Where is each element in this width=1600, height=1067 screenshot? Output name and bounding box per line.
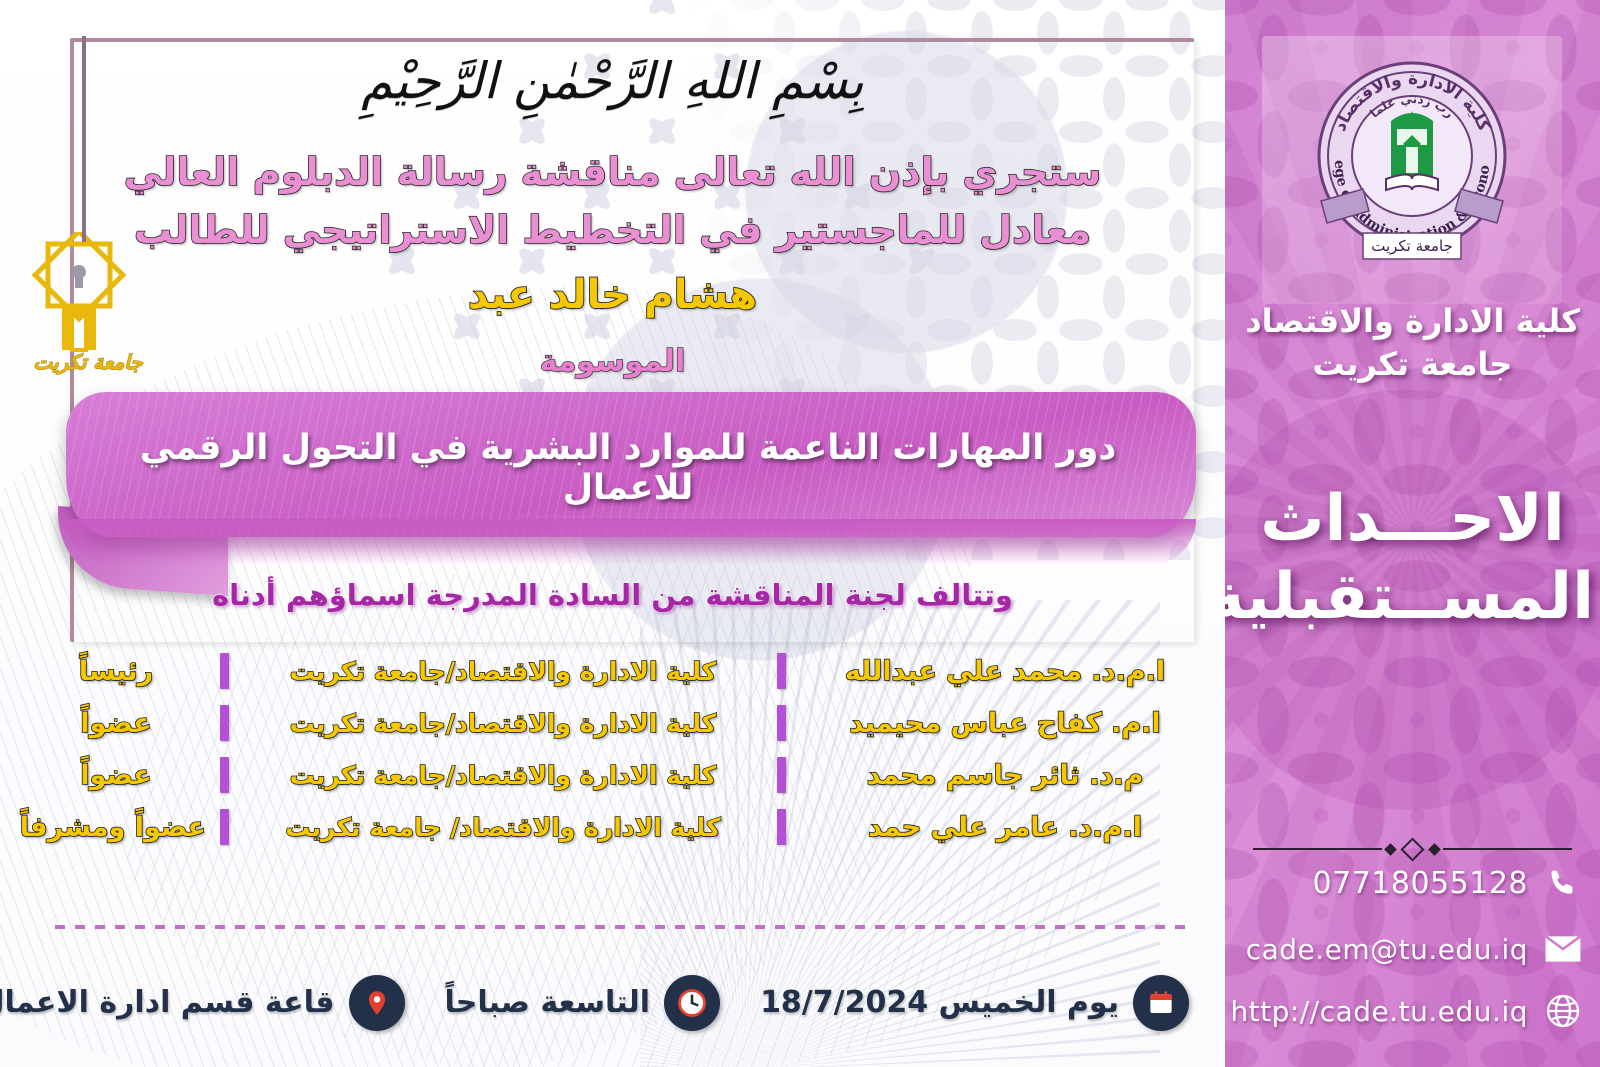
university-emblem: جامعة تكريت (24, 232, 144, 402)
committee-member-name: ا.م.د. عامر علي حمد (800, 812, 1210, 843)
college-seal-logo: كلية الادارة والاقتصاد رب زدني علما Coll… (1287, 51, 1537, 289)
committee-member-name: م.د. ثائر جاسم محمد (800, 760, 1210, 791)
poster-root: بِسْمِ اللهِ الرَّحْمٰنِ الرَّحِيْمِ ستج… (0, 0, 1600, 1067)
contact-website-row[interactable]: http://cade.tu.edu.iq (1230, 990, 1584, 1032)
thesis-title-ribbon: دور المهارات الناعمة للموارد البشرية في … (58, 392, 1198, 592)
announcement-line-1: ستجري بإذن الله تعالى مناقشة رسالة الدبل… (60, 150, 1165, 194)
committee-separator-bar (220, 809, 229, 845)
emblem-star-icon (24, 232, 144, 362)
main-panel: بِسْمِ اللهِ الرَّحْمٰنِ الرَّحِيْمِ ستج… (0, 0, 1225, 1067)
basmala-calligraphy: بِسْمِ اللهِ الرَّحْمٰنِ الرَّحِيْمِ (0, 52, 1225, 110)
committee-row: ا.م.د. عامر علي حمدكلية الادارة والاقتصا… (0, 801, 1210, 853)
footer-date-item: يوم الخميس 18/7/2024 (754, 975, 1189, 1031)
contact-phone-row[interactable]: 07718055128 (1313, 862, 1584, 904)
committee-member-role: رئيساً (26, 656, 206, 687)
committee-member-role: عضواً (26, 760, 206, 791)
committee-separator-bar (777, 653, 786, 689)
event-details-footer: يوم الخميس 18/7/2024 التاسعة صباحاً (0, 955, 1215, 1050)
calendar-icon (1133, 975, 1189, 1031)
committee-separator-bar (220, 757, 229, 793)
footer-venue-item: قاعة قسم ادارة الاعمال (0, 975, 405, 1031)
divider-bar-right (1253, 848, 1382, 850)
phone-number: 07718055128 (1313, 866, 1528, 901)
committee-member-role: عضواً ومشرفاً (26, 812, 206, 843)
emblem-label: جامعة تكريت (30, 350, 146, 374)
committee-member-name: ا.م. كفاح عباس محيميد (800, 708, 1210, 739)
divider-dot-right (1384, 843, 1397, 856)
committee-separator-bar (220, 653, 229, 689)
committee-member-role: عضواً (26, 708, 206, 739)
divider-bar-left (1443, 848, 1572, 850)
ornamental-divider (1253, 838, 1572, 860)
future-events-line-1: الاحـــداث (1231, 480, 1594, 558)
clock-icon (664, 975, 720, 1031)
committee-row: ا.م. كفاح عباس محيميدكلية الادارة والاقت… (0, 697, 1210, 749)
committee-heading: وتتالف لجنة المناقشة من السادة المدرجة ا… (60, 578, 1165, 612)
college-name-block: كلية الادارة والاقتصاد جامعة تكريت (1233, 300, 1592, 386)
event-venue: قاعة قسم ادارة الاعمال (0, 985, 335, 1020)
location-pin-icon (349, 975, 405, 1031)
event-date: يوم الخميس 18/7/2024 (760, 985, 1119, 1020)
titled-label: الموسومة (60, 344, 1165, 379)
globe-icon (1542, 990, 1584, 1032)
announcement-line-2: معادل للماجستير في التخطيط الاستراتيجي ل… (60, 208, 1165, 252)
college-name-line-2: جامعة تكريت (1233, 343, 1592, 386)
future-events-title: الاحـــداث المســتقبلية (1231, 480, 1594, 636)
future-events-line-2: المســتقبلية (1231, 558, 1594, 636)
committee-row: م.د. ثائر جاسم محمدكلية الادارة والاقتصا… (0, 749, 1210, 801)
committee-separator-bar (220, 705, 229, 741)
sidebar: كلية الادارة والاقتصاد رب زدني علما Coll… (1225, 0, 1600, 1067)
envelope-icon (1542, 928, 1584, 970)
committee-row: ا.م.د. محمد علي عبداللهكلية الادارة والا… (0, 645, 1210, 697)
committee-separator-bar (777, 705, 786, 741)
email-address: cade.em@tu.edu.iq (1246, 933, 1528, 966)
phone-icon (1542, 862, 1584, 904)
committee-member-name: ا.م.د. محمد علي عبدالله (800, 656, 1210, 687)
contact-email-row[interactable]: cade.em@tu.edu.iq (1246, 928, 1584, 970)
committee-separator-bar (777, 757, 786, 793)
divider-dot-left (1428, 843, 1441, 856)
website-url: http://cade.tu.edu.iq (1230, 995, 1528, 1028)
committee-member-affiliation: كلية الادارة والاقتصاد/جامعة تكريت (243, 657, 763, 686)
svg-text:جامعة تكريت: جامعة تكريت (1371, 237, 1453, 255)
event-time: التاسعة صباحاً (445, 985, 651, 1020)
divider-diamond (1400, 837, 1424, 861)
student-name: هشام خالد عبد (60, 272, 1165, 318)
committee-member-affiliation: كلية الادارة والاقتصاد/ جامعة تكريت (243, 813, 763, 842)
college-name-line-1: كلية الادارة والاقتصاد (1233, 300, 1592, 343)
committee-table: ا.م.د. محمد علي عبداللهكلية الادارة والا… (0, 645, 1210, 853)
footer-time-item: التاسعة صباحاً (439, 975, 721, 1031)
college-logo-container: كلية الادارة والاقتصاد رب زدني علما Coll… (1262, 36, 1562, 304)
committee-member-affiliation: كلية الادارة والاقتصاد/جامعة تكريت (243, 709, 763, 738)
committee-separator-bar (777, 809, 786, 845)
emblem-cord (82, 36, 86, 242)
dotted-divider (55, 925, 1185, 929)
thesis-title-text: دور المهارات الناعمة للموارد البشرية في … (58, 428, 1198, 508)
committee-member-affiliation: كلية الادارة والاقتصاد/جامعة تكريت (243, 761, 763, 790)
